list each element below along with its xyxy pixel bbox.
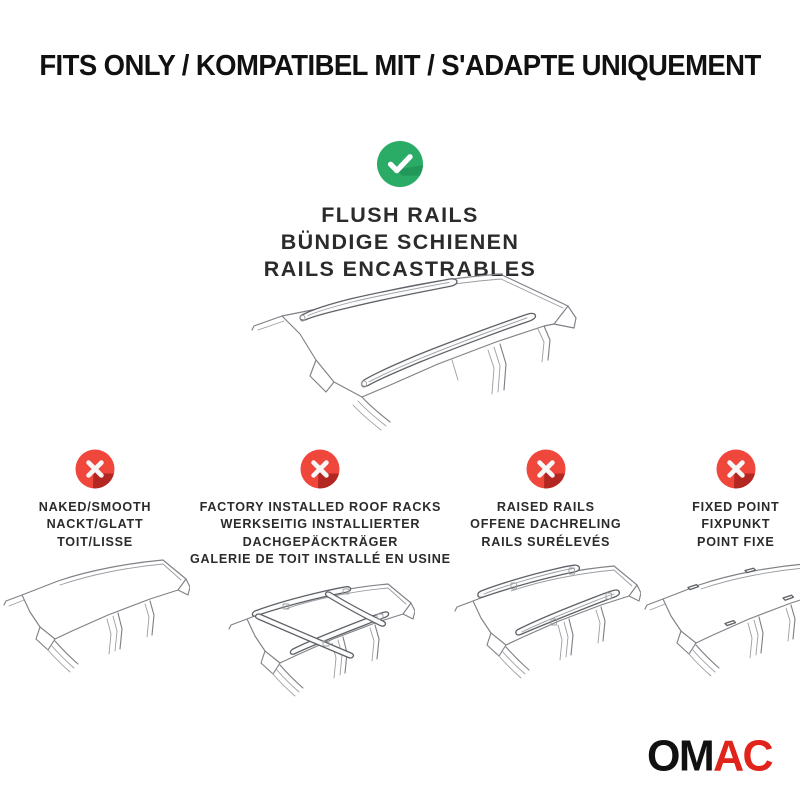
- option-label-line3: TOIT/LISSE: [0, 534, 190, 551]
- option-naked-smooth-labels: NAKED/SMOOTH NACKT/GLATT TOIT/LISSE: [0, 499, 190, 551]
- option-label-line1: FIXED POINT: [641, 499, 800, 516]
- header: FITS ONLY / KOMPATIBEL MIT / S'ADAPTE UN…: [0, 52, 800, 81]
- option-factory-roof-racks: FACTORY INSTALLED ROOF RACKS WERKSEITIG …: [190, 447, 451, 715]
- option-factory-roof-racks-labels: FACTORY INSTALLED ROOF RACKS WERKSEITIG …: [190, 499, 451, 569]
- page-title: FITS ONLY / KOMPATIBEL MIT / S'ADAPTE UN…: [14, 52, 786, 81]
- option-naked-smooth: NAKED/SMOOTH NACKT/GLATT TOIT/LISSE: [0, 447, 190, 697]
- option-label-line2: FIXPUNKT: [641, 516, 800, 533]
- logo-text-ac: AC: [713, 735, 772, 779]
- check-circle-icon: [374, 138, 426, 190]
- compatible-option: FLUSH RAILS BÜNDIGE SCHIENEN RAILS ENCAS…: [0, 138, 800, 283]
- car-roof-factory-racks-illustration: [190, 575, 451, 715]
- x-circle-icon: [298, 447, 342, 491]
- car-roof-raised-rails-illustration: [451, 557, 641, 697]
- car-roof-flush-rails-illustration: [238, 268, 578, 433]
- option-label-line4: GALERIE DE TOIT INSTALLÉ EN USINE: [190, 551, 451, 568]
- car-roof-fixed-point-illustration: [641, 557, 800, 697]
- option-label-line3: POINT FIXE: [641, 534, 800, 551]
- option-label-line3: DACHGEPÄCKTRÄGER: [190, 534, 451, 551]
- option-label-line3: RAILS SURÉLEVÉS: [451, 534, 641, 551]
- compatible-label-de: BÜNDIGE SCHIENEN: [0, 229, 800, 256]
- incompatible-options: NAKED/SMOOTH NACKT/GLATT TOIT/LISSE: [0, 447, 800, 747]
- option-raised-rails-labels: RAISED RAILS OFFENE DACHRELING RAILS SUR…: [451, 499, 641, 551]
- option-label-line2: WERKSEITIG INSTALLIERTER: [190, 516, 451, 533]
- x-circle-icon: [714, 447, 758, 491]
- x-circle-icon: [524, 447, 568, 491]
- logo-text-om: OM: [647, 735, 713, 779]
- option-label-line2: OFFENE DACHRELING: [451, 516, 641, 533]
- car-roof-naked-illustration: [0, 557, 190, 697]
- option-label-line1: RAISED RAILS: [451, 499, 641, 516]
- option-label-line2: NACKT/GLATT: [0, 516, 190, 533]
- omac-logo: OM AC: [647, 735, 772, 778]
- option-raised-rails: RAISED RAILS OFFENE DACHRELING RAILS SUR…: [451, 447, 641, 697]
- option-label-line1: NAKED/SMOOTH: [0, 499, 190, 516]
- x-circle-icon: [73, 447, 117, 491]
- compatible-label-en: FLUSH RAILS: [0, 202, 800, 229]
- option-label-line1: FACTORY INSTALLED ROOF RACKS: [190, 499, 451, 516]
- option-fixed-point: FIXED POINT FIXPUNKT POINT FIXE: [641, 447, 800, 697]
- option-fixed-point-labels: FIXED POINT FIXPUNKT POINT FIXE: [641, 499, 800, 551]
